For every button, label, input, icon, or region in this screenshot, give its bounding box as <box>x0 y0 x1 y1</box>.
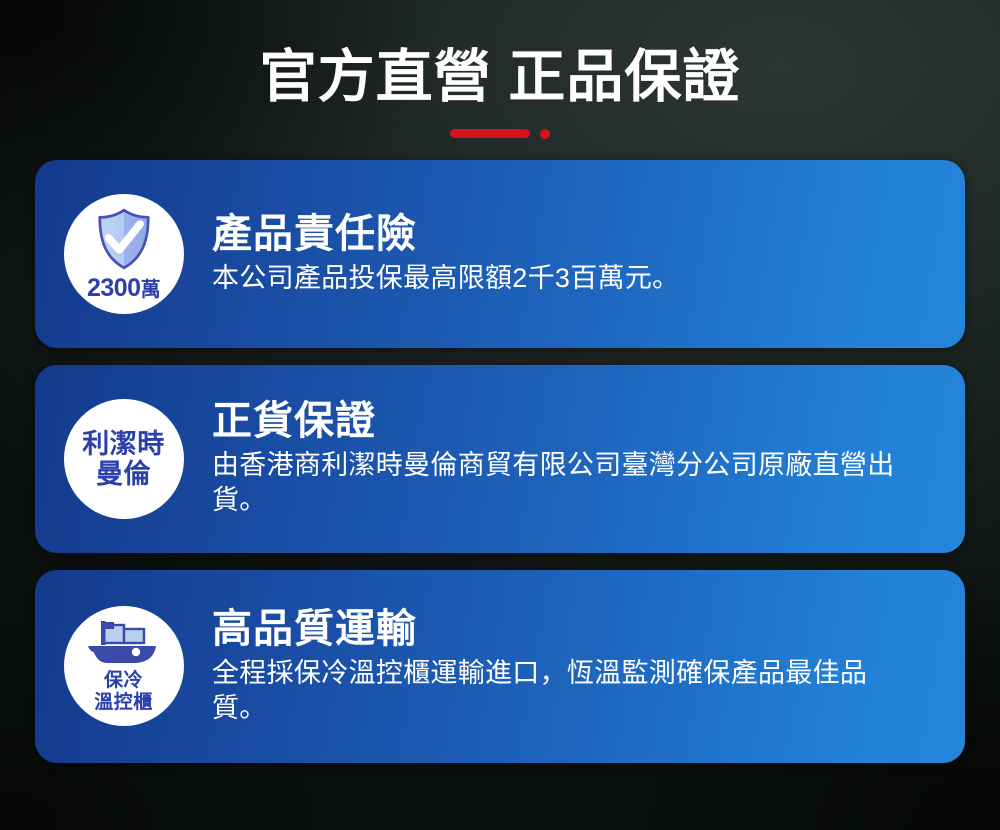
divider <box>0 129 1000 139</box>
card-title: 正貨保證 <box>212 399 941 444</box>
card-body: 產品責任險 本公司產品投保最高限額2千3百萬元。 <box>212 212 965 296</box>
card-description: 本公司產品投保最高限額2千3百萬元。 <box>212 261 902 296</box>
card-title: 高品質運輸 <box>212 607 941 652</box>
feature-card-high-quality-transport: 保冷 溫控櫃 高品質運輸 全程採保冷溫控櫃運輸進口，恆溫監測確保產品最佳品質。 <box>35 570 965 763</box>
badge-cold-line1: 保冷 <box>94 670 153 692</box>
badge-wrap: 保冷 溫控櫃 <box>35 606 212 726</box>
card-title: 產品責任險 <box>212 212 941 257</box>
badge-brand-line1: 利潔時 <box>82 429 165 459</box>
badge-insurance: 2300萬 <box>64 194 184 314</box>
badge-brand-line2: 曼倫 <box>82 459 165 489</box>
badge-cold-line2: 溫控櫃 <box>94 692 153 714</box>
divider-dot <box>540 129 550 139</box>
badge-amount-unit: 萬 <box>141 279 161 301</box>
badge-cold-chain: 保冷 溫控櫃 <box>64 606 184 726</box>
card-body: 正貨保證 由香港商利潔時曼倫商貿有限公司臺灣分公司原廠直營出貨。 <box>212 399 965 518</box>
badge-amount: 2300萬 <box>87 275 160 301</box>
feature-card-genuine-product-guarantee: 利潔時 曼倫 正貨保證 由香港商利潔時曼倫商貿有限公司臺灣分公司原廠直營出貨。 <box>35 365 965 553</box>
shield-check-icon <box>91 206 157 272</box>
badge-cold-text: 保冷 溫控櫃 <box>94 670 153 715</box>
page-title: 官方直營 正品保證 <box>0 46 1000 110</box>
badge-wrap: 2300萬 <box>35 194 212 314</box>
card-description: 全程採保冷溫控櫃運輸進口，恆溫監測確保產品最佳品質。 <box>212 656 902 726</box>
badge-wrap: 利潔時 曼倫 <box>35 399 212 519</box>
badge-brand: 利潔時 曼倫 <box>64 399 184 519</box>
promo-banner: 官方直營 正品保證 <box>0 0 1000 830</box>
card-body: 高品質運輸 全程採保冷溫控櫃運輸進口，恆溫監測確保產品最佳品質。 <box>212 607 965 726</box>
cargo-ship-icon <box>86 618 162 668</box>
divider-bar <box>450 129 530 138</box>
badge-amount-value: 2300 <box>87 274 141 302</box>
banner-header: 官方直營 正品保證 <box>0 0 1000 139</box>
brand-text-badge: 利潔時 曼倫 <box>82 429 165 489</box>
feature-card-product-liability-insurance: 2300萬 產品責任險 本公司產品投保最高限額2千3百萬元。 <box>35 160 965 348</box>
feature-card-list: 2300萬 產品責任險 本公司產品投保最高限額2千3百萬元。 利潔時 曼倫 <box>35 160 965 763</box>
card-description: 由香港商利潔時曼倫商貿有限公司臺灣分公司原廠直營出貨。 <box>212 448 902 518</box>
